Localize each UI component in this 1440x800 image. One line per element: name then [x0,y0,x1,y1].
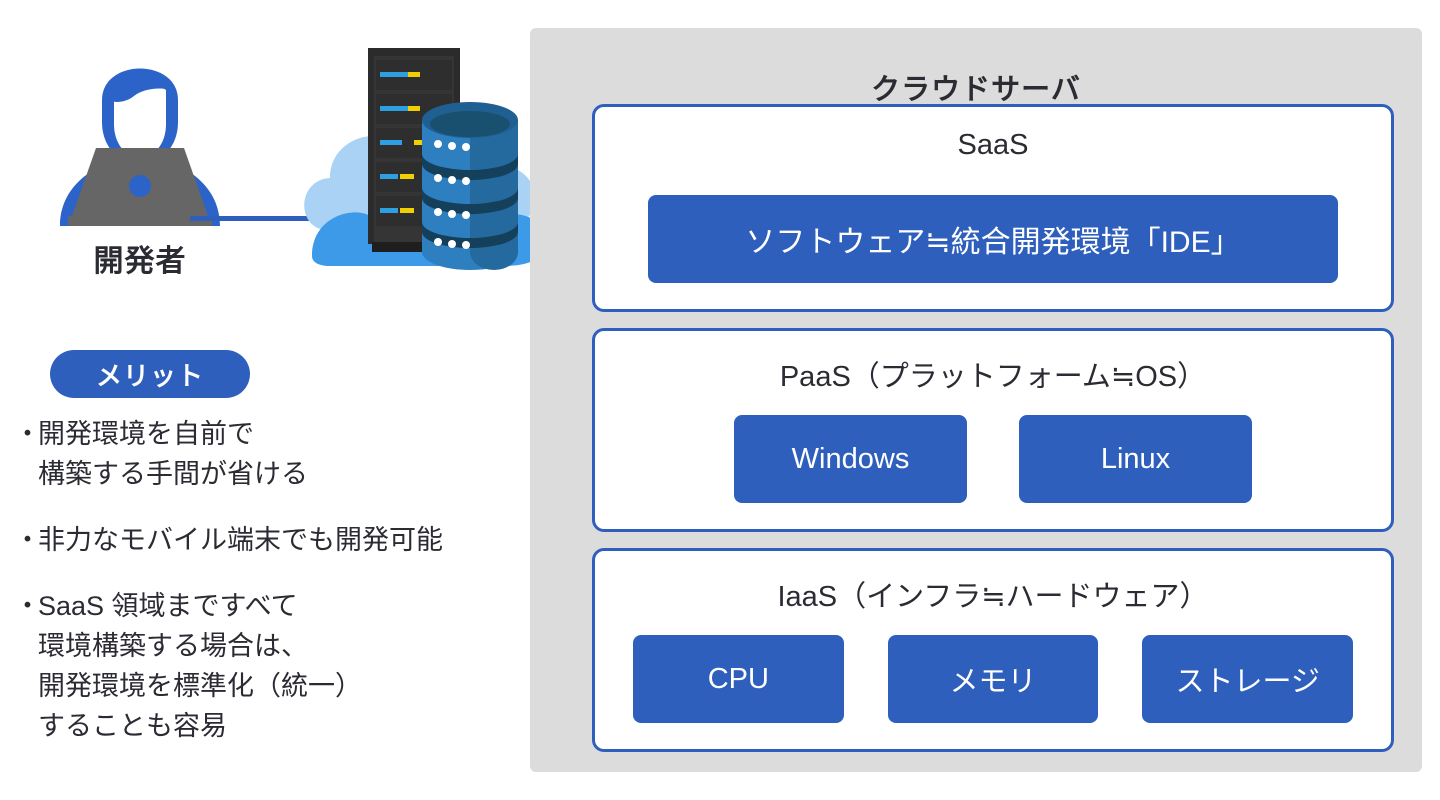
chip-linux[interactable]: Linux [1019,415,1252,503]
panel-title: クラウドサーバ [530,66,1422,108]
layer-items-iaas: CPU メモリ ストレージ [595,635,1391,723]
list-item-text: SaaS 領域まですべて 環境構築する場合は、 開発環境を標準化（統一） するこ… [38,586,524,746]
left-column: 開発者 [0,0,530,800]
list-item: ・ SaaS 領域まですべて 環境構築する場合は、 開発環境を標準化（統一） す… [14,586,524,746]
developer-person-laptop-icon [40,30,240,230]
bullet-marker: ・ [14,586,38,626]
slide-canvas: 開発者 [0,0,1440,800]
layer-card-paas: PaaS（プラットフォーム≒OS） Windows Linux [592,328,1394,532]
layer-title-saas: SaaS [595,129,1391,162]
bullet-marker: ・ [14,414,38,454]
list-item: ・ 非力なモバイル端末でも開発可能 [14,520,524,560]
chip-memory[interactable]: メモリ [888,635,1099,723]
merit-badge: メリット [50,350,250,398]
chip-cpu[interactable]: CPU [633,635,844,723]
layer-title-paas: PaaS（プラットフォーム≒OS） [595,353,1391,395]
chip-ide[interactable]: ソフトウェア≒統合開発環境「IDE」 [648,195,1338,283]
layer-items-saas: ソフトウェア≒統合開発環境「IDE」 [595,195,1391,283]
chip-windows[interactable]: Windows [734,415,967,503]
layer-items-paas: Windows Linux [595,415,1391,503]
merit-list: ・ 開発環境を自前で 構築する手間が省ける ・ 非力なモバイル端末でも開発可能 … [14,414,524,772]
layer-card-saas: SaaS ソフトウェア≒統合開発環境「IDE」 [592,104,1394,312]
list-item-text: 開発環境を自前で 構築する手間が省ける [38,414,524,494]
developer-label: 開発者 [40,236,240,280]
chip-storage[interactable]: ストレージ [1142,635,1353,723]
layer-card-iaas: IaaS（インフラ≒ハードウェア） CPU メモリ ストレージ [592,548,1394,752]
bullet-marker: ・ [14,520,38,560]
cloud-server-panel: クラウドサーバ SaaS ソフトウェア≒統合開発環境「IDE」 PaaS（プラッ… [530,28,1422,772]
list-item: ・ 開発環境を自前で 構築する手間が省ける [14,414,524,494]
layer-title-iaas: IaaS（インフラ≒ハードウェア） [595,573,1391,615]
list-item-text: 非力なモバイル端末でも開発可能 [38,520,524,560]
